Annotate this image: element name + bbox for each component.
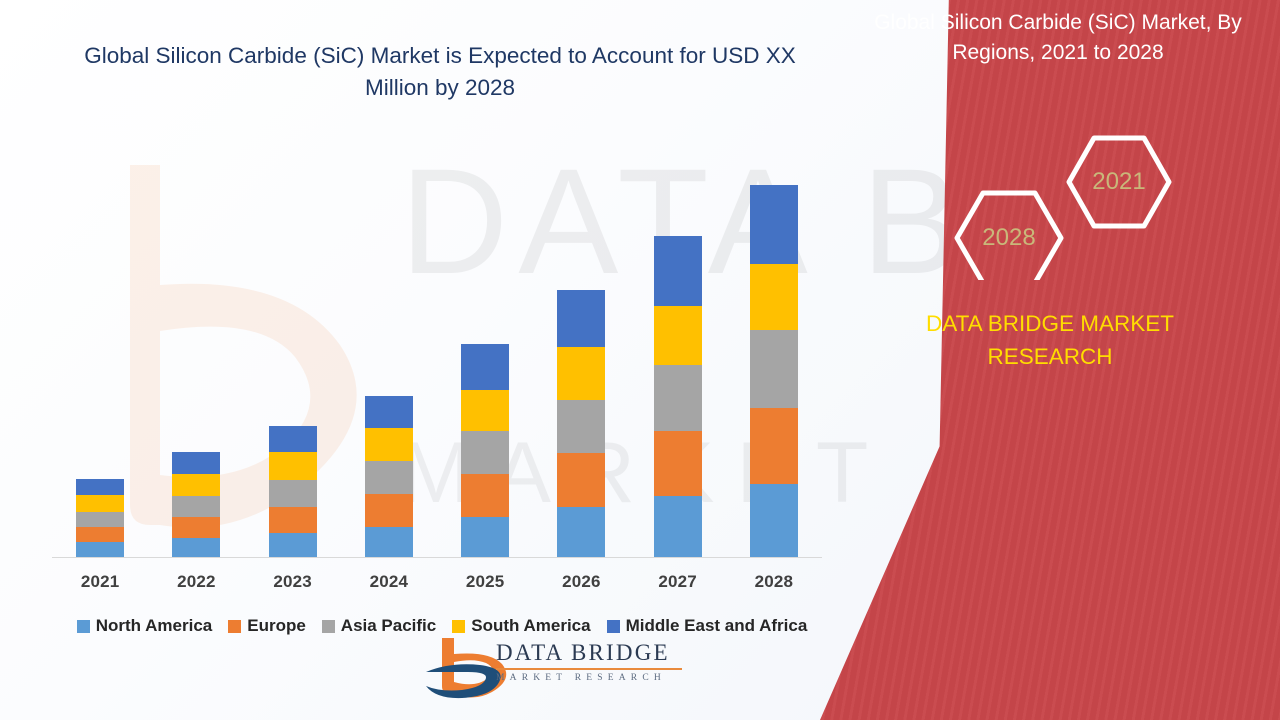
hexagon-label-2021: 2021 xyxy=(1088,168,1150,196)
bar-segment xyxy=(557,347,605,400)
bar-segment xyxy=(172,474,220,496)
stacked-bar xyxy=(557,290,605,557)
stacked-bar xyxy=(750,185,798,557)
bar-segment xyxy=(269,480,317,507)
bar-segment xyxy=(654,365,702,431)
logo-tagline: MARKET RESEARCH xyxy=(496,673,682,683)
bar-group xyxy=(630,150,726,557)
x-axis-tick-label: 2021 xyxy=(52,572,148,592)
bar-segment xyxy=(750,330,798,408)
bar-segment xyxy=(461,344,509,390)
bar-segment xyxy=(750,185,798,264)
bar-segment xyxy=(750,408,798,484)
legend-label: Middle East and Africa xyxy=(626,616,808,636)
x-axis-line xyxy=(52,557,822,558)
brand-panel: Global Silicon Carbide (SiC) Market, By … xyxy=(820,0,1280,720)
legend-item[interactable]: North America xyxy=(77,616,213,636)
hexagon-outlines-icon xyxy=(820,120,1280,280)
bar-segment xyxy=(269,507,317,533)
bar-segment xyxy=(654,236,702,306)
x-axis-tick-label: 2024 xyxy=(341,572,437,592)
bar-segment xyxy=(461,517,509,557)
bar-group xyxy=(437,150,533,557)
logo-divider xyxy=(496,668,682,670)
x-axis-tick-label: 2022 xyxy=(148,572,244,592)
legend-item[interactable]: Europe xyxy=(228,616,306,636)
bar-segment xyxy=(76,479,124,495)
bar-group xyxy=(245,150,341,557)
brand-name: DATA BRIDGE MARKET RESEARCH xyxy=(840,308,1260,373)
bar-segment xyxy=(76,512,124,527)
stacked-bar xyxy=(461,344,509,557)
bar-segment xyxy=(750,264,798,330)
chart-title: Global Silicon Carbide (SiC) Market is E… xyxy=(60,40,820,104)
data-bridge-wordmark: DATA BRIDGE MARKET RESEARCH xyxy=(496,640,682,683)
bar-segment xyxy=(557,400,605,453)
bar-group xyxy=(726,150,822,557)
legend-swatch-icon xyxy=(452,620,465,633)
legend-label: North America xyxy=(96,616,213,636)
x-axis-tick-label: 2027 xyxy=(630,572,726,592)
brand-name-line1: DATA BRIDGE MARKET xyxy=(840,308,1260,341)
infographic-canvas: DATA BRIDGE MARKET RESEARCH Global Silic… xyxy=(0,0,1280,720)
bar-segment xyxy=(172,496,220,517)
bar-segment xyxy=(76,542,124,557)
bar-segment xyxy=(365,494,413,527)
bar-segment xyxy=(365,428,413,461)
bar-segment xyxy=(461,390,509,431)
bar-segment xyxy=(654,431,702,496)
bar-segment xyxy=(269,426,317,452)
bar-group xyxy=(52,150,148,557)
bar-segment xyxy=(461,474,509,517)
bar-segment xyxy=(172,452,220,474)
hexagon-group: 2021 2028 xyxy=(820,120,1280,280)
stacked-bar xyxy=(365,396,413,557)
bar-segment xyxy=(269,533,317,557)
bar-segment xyxy=(654,306,702,365)
x-axis-labels: 20212022202320242025202620272028 xyxy=(52,572,822,592)
stacked-bar xyxy=(172,452,220,557)
legend-swatch-icon xyxy=(77,620,90,633)
x-axis-tick-label: 2026 xyxy=(533,572,629,592)
stacked-bar-chart xyxy=(52,150,822,557)
logo-name: DATA BRIDGE xyxy=(496,640,682,666)
stacked-bar xyxy=(269,426,317,557)
x-axis-tick-label: 2023 xyxy=(245,572,341,592)
bar-segment xyxy=(557,290,605,347)
bar-segment xyxy=(172,538,220,557)
bar-segment xyxy=(750,484,798,557)
x-axis-tick-label: 2025 xyxy=(437,572,533,592)
bar-segment xyxy=(461,431,509,474)
brand-panel-title: Global Silicon Carbide (SiC) Market, By … xyxy=(848,8,1268,69)
bar-segment xyxy=(76,495,124,512)
legend-swatch-icon xyxy=(607,620,620,633)
bar-segment xyxy=(557,453,605,507)
bar-group xyxy=(533,150,629,557)
legend-swatch-icon xyxy=(228,620,241,633)
bar-group xyxy=(148,150,244,557)
legend-label: Europe xyxy=(247,616,306,636)
bar-segment xyxy=(557,507,605,557)
bar-group xyxy=(341,150,437,557)
bar-segment xyxy=(365,461,413,494)
stacked-bar xyxy=(654,236,702,557)
bar-segment xyxy=(365,527,413,557)
bar-segment xyxy=(269,452,317,480)
bar-segment xyxy=(654,496,702,557)
stacked-bar xyxy=(76,479,124,557)
hexagon-label-2028: 2028 xyxy=(978,224,1040,252)
bar-segment xyxy=(76,527,124,542)
bar-segment xyxy=(172,517,220,538)
bar-segment xyxy=(365,396,413,428)
brand-name-line2: RESEARCH xyxy=(840,341,1260,374)
legend-swatch-icon xyxy=(322,620,335,633)
x-axis-tick-label: 2028 xyxy=(726,572,822,592)
